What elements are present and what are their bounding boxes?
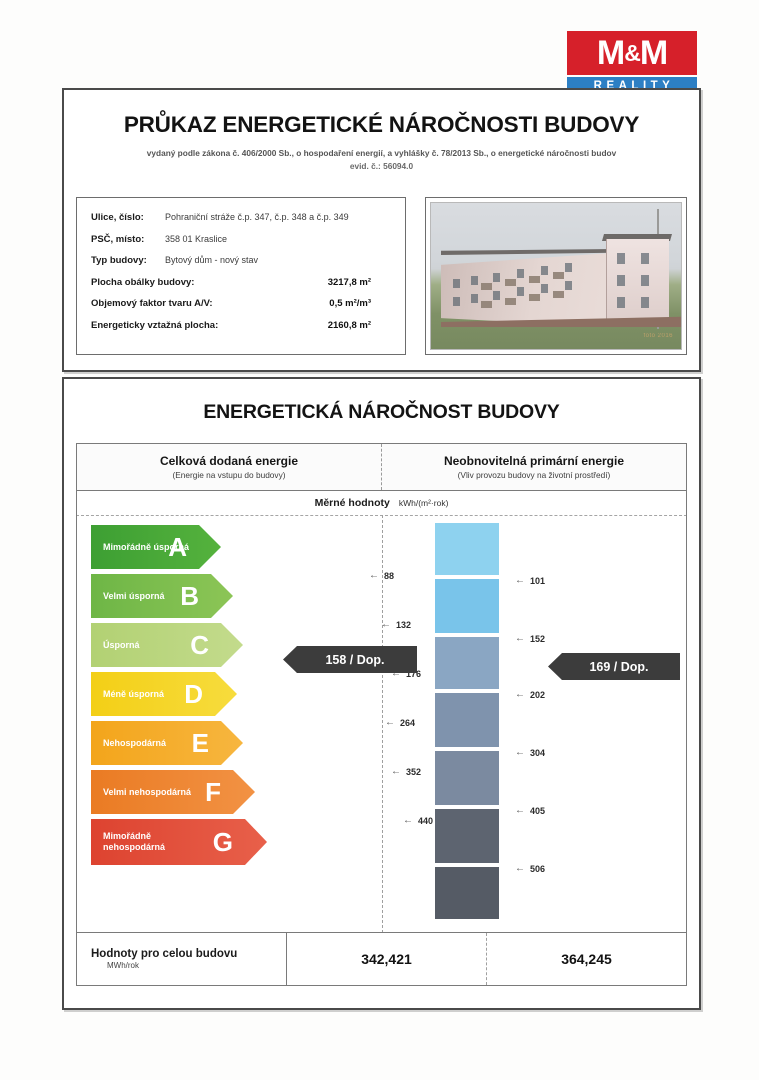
evidence-number: evid. č.: 56094.0 (64, 161, 699, 171)
building-info-box: Ulice, číslo: Pohraniční stráže č.p. 347… (76, 197, 406, 355)
energy-scale-area: Mimořádně úsporná A ← 88 Velmi úsporná B… (76, 515, 687, 933)
photo-date-stamp: foto 2016 (643, 333, 673, 339)
building-photo-frame: foto 2016 (425, 197, 687, 355)
column-delivered-energy: Celková dodaná energie (Energie na vstup… (77, 444, 382, 490)
info-value: 3217,8 m² (267, 277, 371, 288)
facade-side (441, 253, 611, 327)
arrow-left-icon: ← (403, 816, 413, 826)
summary-unit: MWh/rok (91, 961, 286, 970)
info-label: Energeticky vztažná plocha: (91, 320, 267, 331)
info-label: Objemový faktor tvaru A/V: (91, 298, 267, 309)
primary-scale-band: ← 202 (435, 637, 565, 689)
building-photo: foto 2016 (430, 202, 682, 350)
class-label: Mimořádně nehospodárná (91, 831, 195, 853)
class-label: Úsporná (91, 640, 195, 651)
class-letter: C (190, 632, 209, 658)
info-value: 0,5 m²/m³ (267, 298, 371, 309)
page-title: PRŮKAZ ENERGETICKÉ NÁROČNOSTI BUDOVY (64, 112, 699, 138)
building-info-wrap: Ulice, číslo: Pohraniční stráže č.p. 347… (76, 197, 687, 355)
info-row: Objemový faktor tvaru A/V: 0,5 m²/m³ (91, 298, 405, 309)
energy-class-band: Nehospodárná E ← 352 (91, 721, 371, 765)
primary-scale-band: ← 405 (435, 751, 565, 805)
mm-reality-logo: M&M REALITY (567, 31, 697, 96)
result-marker-delivered: 158 / Dop. (283, 646, 417, 673)
energy-performance-panel: ENERGETICKÁ NÁROČNOST BUDOVY Celková dod… (62, 377, 701, 1010)
energy-class-band: Velmi úsporná B ← 132 (91, 574, 371, 618)
boundary-value: 132 (396, 620, 411, 630)
class-label: Méně úsporná (91, 689, 195, 700)
units-value: kWh/(m²·rok) (399, 498, 449, 508)
primary-energy-scale: ← 101 ← 152 ← 202 (435, 523, 565, 923)
info-value: 358 01 Kraslice (165, 234, 227, 244)
info-row: Typ budovy: Bytový dům - nový stav (91, 255, 405, 266)
energy-class-band: Mimořádně nehospodárná G (91, 819, 371, 863)
primary-scale-band (435, 867, 565, 919)
legal-subtitle: vydaný podle zákona č. 406/2000 Sb., o h… (64, 147, 699, 160)
class-letter: G (213, 829, 233, 855)
summary-value-primary: 364,245 (487, 933, 686, 985)
arrow-left-icon: ← (385, 718, 395, 728)
boundary-value: 440 (418, 816, 433, 826)
info-value: Pohraniční stráže č.p. 347, č.p. 348 a č… (165, 212, 349, 222)
apartment-block (441, 237, 677, 327)
info-label: Ulice, číslo: (91, 212, 165, 223)
info-value: 2160,8 m² (267, 320, 371, 331)
class-label: Velmi nehospodárná (91, 787, 195, 798)
boundary-value: 264 (400, 718, 415, 728)
info-row: PSČ, místo: 358 01 Kraslice (91, 234, 405, 245)
summary-value-delivered: 342,421 (287, 933, 487, 985)
info-label: Typ budovy: (91, 255, 165, 266)
logo-m-right: M (640, 34, 667, 72)
energy-section-title: ENERGETICKÁ NÁROČNOST BUDOVY (64, 401, 699, 424)
primary-scale-band: ← 304 (435, 693, 565, 747)
energy-class-band: Velmi nehospodárná F ← 440 (91, 770, 371, 814)
energy-columns-header: Celková dodaná energie (Energie na vstup… (76, 443, 687, 491)
info-label: PSČ, místo: (91, 234, 165, 245)
class-label: Nehospodárná (91, 738, 195, 749)
units-label: Měrné hodnoty (315, 497, 390, 509)
summary-label: Hodnoty pro celou budovu (91, 948, 286, 960)
column-title: Neobnovitelná primární energie (444, 454, 624, 468)
energy-class-scale: Mimořádně úsporná A ← 88 Velmi úsporná B… (91, 525, 371, 868)
arrow-left-icon: ← (381, 620, 391, 630)
boundary-value: 352 (406, 767, 421, 777)
class-letter: F (205, 779, 221, 805)
primary-scale-band: ← 101 (435, 523, 565, 575)
arrow-left-icon: ← (391, 767, 401, 777)
class-letter: A (168, 534, 187, 560)
facade-front (606, 239, 669, 327)
primary-scale-band: ← 152 (435, 579, 565, 633)
info-row: Ulice, číslo: Pohraniční stráže č.p. 347… (91, 212, 405, 223)
header-panel: PRŮKAZ ENERGETICKÉ NÁROČNOSTI BUDOVY vyd… (62, 88, 701, 372)
whole-building-summary: Hodnoty pro celou budovu MWh/rok 342,421… (76, 932, 687, 986)
column-primary-energy: Neobnovitelná primární energie (Vliv pro… (382, 444, 686, 490)
logo-m-left: M (597, 34, 624, 72)
summary-label-cell: Hodnoty pro celou budovu MWh/rok (77, 933, 287, 985)
energy-class-band: Mimořádně úsporná A ← 88 (91, 525, 371, 569)
column-subtitle: (Vliv provozu budovy na životní prostřed… (458, 470, 611, 480)
roof-line (441, 249, 613, 255)
energy-class-band: Méně úsporná D ← 264 (91, 672, 371, 716)
primary-scale-band: ← 506 (435, 809, 565, 863)
column-title: Celková dodaná energie (160, 454, 298, 468)
class-letter: E (192, 730, 209, 756)
logo-ampersand: & (624, 40, 640, 66)
logo-mark: M&M (567, 31, 697, 75)
column-subtitle: (Energie na vstupu do budovy) (172, 470, 285, 480)
class-letter: B (180, 583, 199, 609)
units-row: Měrné hodnoty kWh/(m²·rok) (76, 490, 687, 516)
boundary-value: 88 (384, 571, 394, 581)
info-row: Plocha obálky budovy: 3217,8 m² (91, 277, 405, 288)
info-value: Bytový dům - nový stav (165, 255, 258, 265)
info-label: Plocha obálky budovy: (91, 277, 267, 288)
result-marker-primary: 169 / Dop. (548, 653, 680, 680)
info-row: Energeticky vztažná plocha: 2160,8 m² (91, 320, 405, 331)
class-letter: D (184, 681, 203, 707)
